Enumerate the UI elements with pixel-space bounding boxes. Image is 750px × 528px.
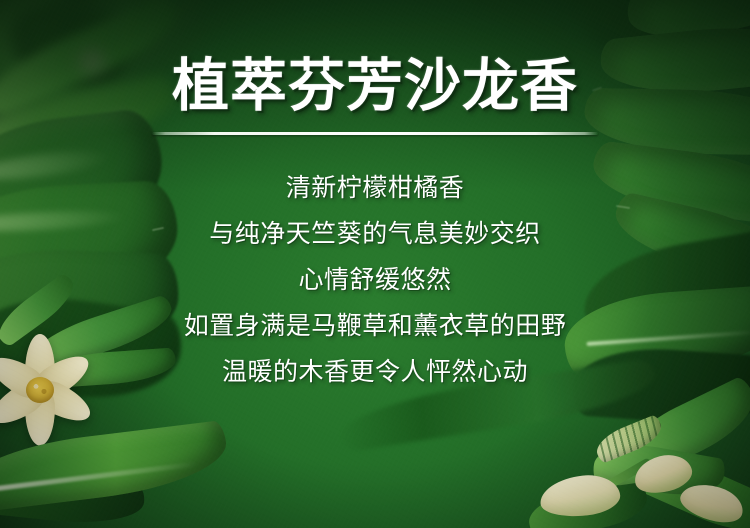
description-line: 心情舒缓悠然 xyxy=(298,257,451,303)
banner-title: 植萃芬芳沙龙香 xyxy=(172,56,578,118)
banner-content: 植萃芬芳沙龙香 清新柠檬柑橘香 与纯净天竺葵的气息美妙交织 心情舒缓悠然 如置身… xyxy=(0,0,750,528)
title-divider xyxy=(152,132,598,135)
description-line: 如置身满是马鞭草和薰衣草的田野 xyxy=(184,303,567,349)
banner-description: 清新柠檬柑橘香 与纯净天竺葵的气息美妙交织 心情舒缓悠然 如置身满是马鞭草和薰衣… xyxy=(184,165,567,395)
description-line: 与纯净天竺葵的气息美妙交织 xyxy=(209,211,541,257)
description-line: 温暖的木香更令人怦然心动 xyxy=(222,349,528,395)
fragrance-promo-banner: 植萃芬芳沙龙香 清新柠檬柑橘香 与纯净天竺葵的气息美妙交织 心情舒缓悠然 如置身… xyxy=(0,0,750,528)
description-line: 清新柠檬柑橘香 xyxy=(286,165,465,211)
